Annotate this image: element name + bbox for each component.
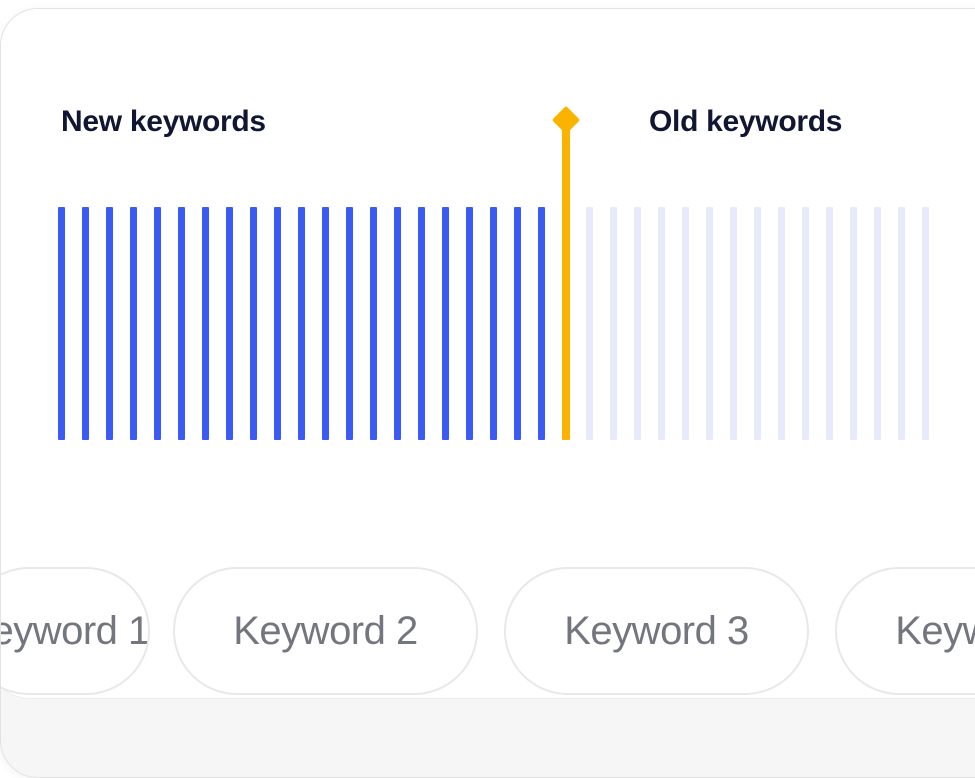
bar-new-keyword xyxy=(514,207,521,440)
bar-new-keyword xyxy=(106,207,113,440)
bar-new-keyword xyxy=(394,207,401,440)
bar-new-keyword xyxy=(346,207,353,440)
chart-label-old-keywords: Old keywords xyxy=(649,105,842,139)
bar-new-keyword xyxy=(82,207,89,440)
bar-old-keyword xyxy=(610,207,617,440)
bar-new-keyword xyxy=(322,207,329,440)
bar-old-keyword xyxy=(682,207,689,440)
keyword-pill[interactable]: Keyword 1 xyxy=(0,567,150,695)
chart-label-new-keywords: New keywords xyxy=(61,105,266,139)
bar-old-keyword xyxy=(730,207,737,440)
bar-old-keyword xyxy=(874,207,881,440)
bar-new-keyword xyxy=(538,207,545,440)
bar-new-keyword xyxy=(466,207,473,440)
keyword-pill[interactable]: Keyword 2 xyxy=(173,567,478,695)
bar-new-keyword xyxy=(490,207,497,440)
bar-new-keyword xyxy=(418,207,425,440)
bar-new-keyword xyxy=(274,207,281,440)
now-marker-diamond-icon xyxy=(552,106,580,134)
bar-group xyxy=(58,207,918,440)
bar-old-keyword xyxy=(922,207,929,440)
bar-old-keyword xyxy=(634,207,641,440)
bar-old-keyword xyxy=(586,207,593,440)
bar-new-keyword xyxy=(130,207,137,440)
bar-new-keyword xyxy=(226,207,233,440)
bar-new-keyword xyxy=(202,207,209,440)
bar-old-keyword xyxy=(706,207,713,440)
bar-new-keyword xyxy=(154,207,161,440)
bar-old-keyword xyxy=(802,207,809,440)
bar-new-keyword xyxy=(250,207,257,440)
keywords-card: New keywords Old keywords Keyword 1Keywo… xyxy=(0,8,975,778)
bar-new-keyword xyxy=(442,207,449,440)
keywords-bar-chart: New keywords Old keywords xyxy=(1,9,975,529)
bar-new-keyword xyxy=(370,207,377,440)
keyword-pill[interactable]: Keyword 3 xyxy=(504,567,809,695)
bar-old-keyword xyxy=(898,207,905,440)
bar-new-keyword xyxy=(58,207,65,440)
bar-new-keyword xyxy=(298,207,305,440)
bar-old-keyword xyxy=(826,207,833,440)
bar-old-keyword xyxy=(778,207,785,440)
now-marker-line xyxy=(562,129,570,440)
bar-old-keyword xyxy=(850,207,857,440)
bar-new-keyword xyxy=(178,207,185,440)
keyword-pill[interactable]: Keyword 4 xyxy=(835,567,975,695)
screen: New keywords Old keywords Keyword 1Keywo… xyxy=(0,0,975,766)
bar-old-keyword xyxy=(658,207,665,440)
keyword-pill-row: Keyword 1Keyword 2Keyword 3Keyword 4 xyxy=(1,567,975,697)
bar-old-keyword xyxy=(754,207,761,440)
